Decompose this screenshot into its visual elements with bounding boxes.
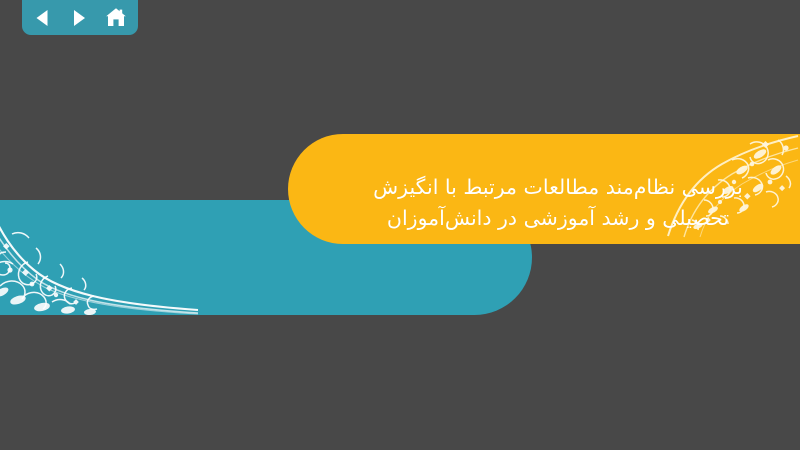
home-button[interactable] [105, 6, 127, 30]
title-line-2: تحصیلی و رشد آموزشی در دانش‌آموزان [350, 203, 766, 234]
triangle-left-icon [34, 9, 50, 27]
title-line-1: بررسی نظام‌مند مطالعات مرتبط با انگیزش [350, 172, 766, 203]
next-slide-button[interactable] [68, 6, 90, 30]
triangle-right-icon [71, 9, 87, 27]
home-icon [105, 7, 127, 28]
previous-slide-button[interactable] [31, 6, 53, 30]
teal-arabesque-ornament [0, 200, 200, 315]
page-title: بررسی نظام‌مند مطالعات مرتبط با انگیزش ت… [350, 172, 766, 234]
slide-stage: بررسی نظام‌مند مطالعات مرتبط با انگیزش ت… [0, 0, 800, 450]
slide-navigation-bar [22, 0, 138, 35]
yellow-title-band: بررسی نظام‌مند مطالعات مرتبط با انگیزش ت… [288, 134, 800, 244]
